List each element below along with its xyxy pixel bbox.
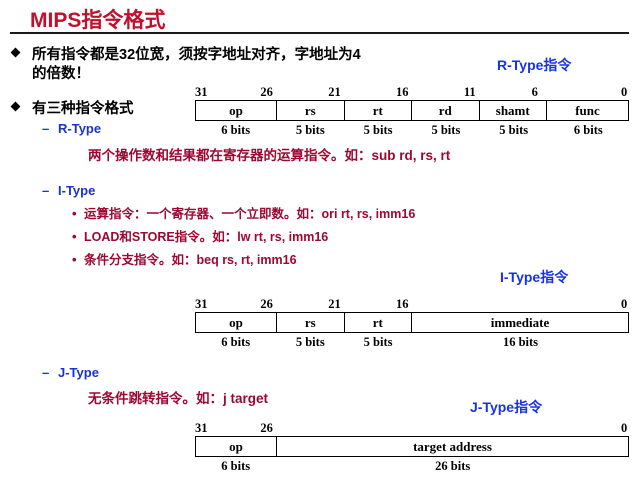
instruction-field: rt bbox=[345, 101, 413, 120]
field-width-label: 5 bits bbox=[416, 123, 476, 138]
itype-note-loadstore-text: LOAD和STORE指令。如：lw rt, rs, imm16 bbox=[84, 230, 328, 244]
dot-bullet-icon: • bbox=[72, 229, 84, 244]
itype-heading-label: I-Type bbox=[58, 183, 95, 198]
instruction-field: shamt bbox=[480, 101, 548, 120]
dash-bullet-icon: – bbox=[42, 365, 58, 380]
instruction-field: rt bbox=[345, 313, 413, 332]
diamond-bullet-icon bbox=[11, 48, 21, 58]
itype-note-loadstore: •LOAD和STORE指令。如：lw rt, rs, imm16 bbox=[72, 226, 328, 245]
instruction-field: op bbox=[196, 437, 277, 456]
rtype-heading-label: R-Type bbox=[58, 121, 101, 136]
itype-note-alu: •运算指令：一个寄存器、一个立即数。如：ori rt, rs, imm16 bbox=[72, 203, 415, 222]
jtype-format-label: J-Type指令 bbox=[470, 397, 542, 417]
jtype-field-widths: 6 bits26 bits bbox=[195, 457, 629, 472]
page-title: MIPS指令格式 bbox=[30, 4, 165, 34]
rtype-heading: –R-Type bbox=[42, 121, 101, 136]
bit-number: 21 bbox=[328, 297, 341, 312]
bit-number: 16 bbox=[396, 297, 409, 312]
instruction-field: immediate bbox=[412, 313, 628, 332]
bit-number: 0 bbox=[621, 297, 627, 312]
jtype-bit-numbers: 31260 bbox=[195, 421, 629, 436]
instruction-field: rs bbox=[277, 101, 345, 120]
field-width-label: 6 bits bbox=[206, 459, 266, 474]
slide-mips-instruction-formats: MIPS指令格式 所有指令都是32位宽，须按字地址对齐，字地址为4 的倍数！ R… bbox=[0, 0, 639, 482]
itype-note-branch: •条件分支指令。如：beq rs, rt, imm16 bbox=[72, 249, 297, 268]
jtype-format-table: 31260 optarget address 6 bits26 bits bbox=[195, 421, 629, 472]
itype-format-table: 312621160 oprsrtimmediate 6 bits5 bits5 … bbox=[195, 297, 629, 348]
field-width-label: 5 bits bbox=[280, 335, 340, 350]
bit-number: 26 bbox=[260, 85, 273, 100]
instruction-field: op bbox=[196, 313, 277, 332]
field-width-label: 16 bits bbox=[491, 335, 551, 350]
bullet-line-2: 的倍数！ bbox=[32, 65, 432, 84]
rtype-note: 两个操作数和结果都在寄存器的运算指令。如：sub rd, rs, rt bbox=[88, 144, 450, 164]
diamond-bullet-icon bbox=[11, 102, 21, 112]
field-width-label: 6 bits bbox=[558, 123, 618, 138]
bit-number: 31 bbox=[195, 85, 208, 100]
jtype-heading: –J-Type bbox=[42, 365, 99, 380]
rtype-format-table: 312621161160 oprsrtrdshamtfunc 6 bits5 b… bbox=[195, 85, 629, 136]
bit-number: 31 bbox=[195, 297, 208, 312]
itype-note-alu-text: 运算指令：一个寄存器、一个立即数。如：ori rt, rs, imm16 bbox=[84, 207, 415, 221]
bullet-instruction-width: 所有指令都是32位宽，须按字地址对齐，字地址为4 的倍数！ bbox=[12, 46, 432, 84]
bit-number: 26 bbox=[260, 421, 273, 436]
instruction-field: func bbox=[547, 101, 628, 120]
bit-number: 0 bbox=[621, 421, 627, 436]
bit-number: 16 bbox=[396, 85, 409, 100]
jtype-field-boxes: optarget address bbox=[195, 436, 629, 457]
field-width-label: 5 bits bbox=[280, 123, 340, 138]
instruction-field: target address bbox=[277, 437, 628, 456]
instruction-field: rd bbox=[412, 101, 480, 120]
dot-bullet-icon: • bbox=[72, 206, 84, 221]
dot-bullet-icon: • bbox=[72, 252, 84, 267]
bit-number: 0 bbox=[621, 85, 627, 100]
rtype-format-label: R-Type指令 bbox=[497, 55, 571, 75]
itype-field-boxes: oprsrtimmediate bbox=[195, 312, 629, 333]
field-width-label: 6 bits bbox=[206, 335, 266, 350]
field-width-label: 5 bits bbox=[484, 123, 544, 138]
field-width-label: 26 bits bbox=[423, 459, 483, 474]
itype-format-label: I-Type指令 bbox=[500, 267, 568, 287]
itype-bit-numbers: 312621160 bbox=[195, 297, 629, 312]
bullet-line-1: 所有指令都是32位宽，须按字地址对齐，字地址为4 bbox=[32, 46, 432, 65]
field-width-label: 5 bits bbox=[348, 335, 408, 350]
field-width-label: 5 bits bbox=[348, 123, 408, 138]
jtype-note: 无条件跳转指令。如：j target bbox=[88, 387, 268, 407]
bit-number: 31 bbox=[195, 421, 208, 436]
instruction-field: rs bbox=[277, 313, 345, 332]
dash-bullet-icon: – bbox=[42, 121, 58, 136]
jtype-heading-label: J-Type bbox=[58, 365, 99, 380]
instruction-field: op bbox=[196, 101, 277, 120]
rtype-field-widths: 6 bits5 bits5 bits5 bits5 bits6 bits bbox=[195, 121, 629, 136]
itype-note-branch-text: 条件分支指令。如：beq rs, rt, imm16 bbox=[84, 253, 297, 267]
rtype-bit-numbers: 312621161160 bbox=[195, 85, 629, 100]
bit-number: 11 bbox=[464, 85, 476, 100]
title-divider bbox=[10, 32, 629, 34]
bit-number: 21 bbox=[328, 85, 341, 100]
itype-field-widths: 6 bits5 bits5 bits16 bits bbox=[195, 333, 629, 348]
bit-number: 6 bbox=[532, 85, 538, 100]
dash-bullet-icon: – bbox=[42, 183, 58, 198]
bit-number: 26 bbox=[260, 297, 273, 312]
rtype-field-boxes: oprsrtrdshamtfunc bbox=[195, 100, 629, 121]
itype-heading: –I-Type bbox=[42, 183, 95, 198]
field-width-label: 6 bits bbox=[206, 123, 266, 138]
